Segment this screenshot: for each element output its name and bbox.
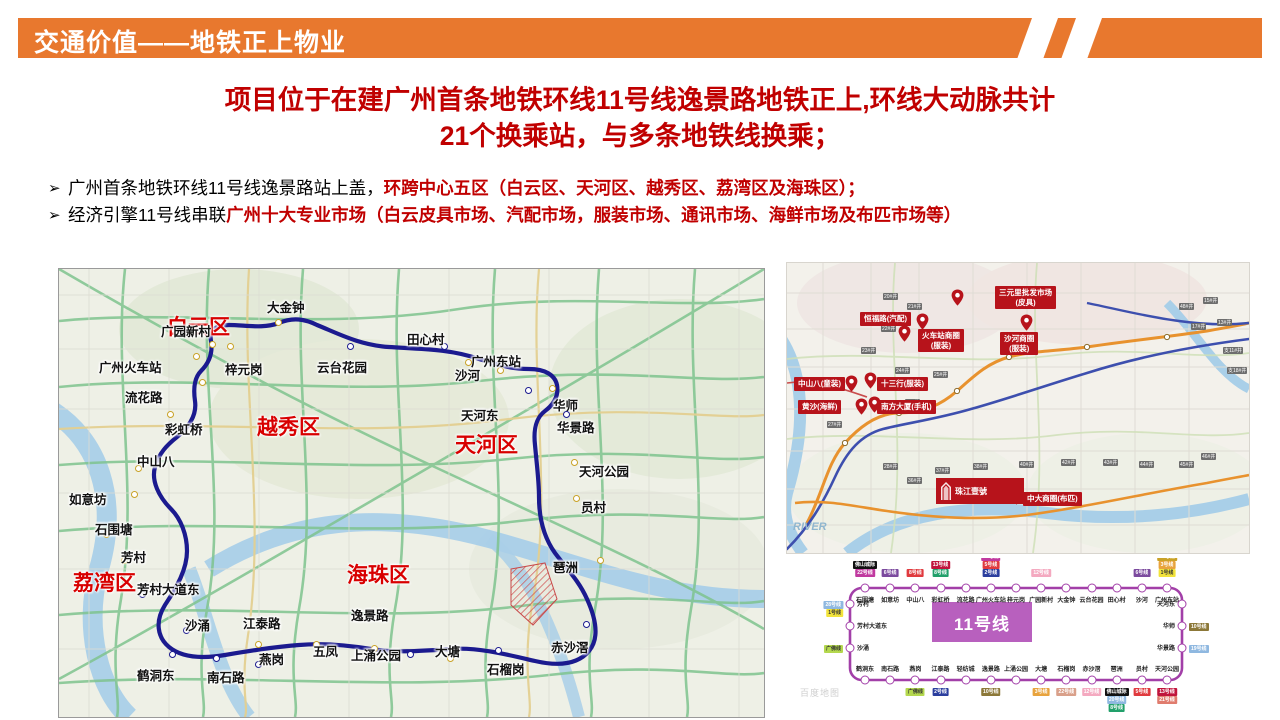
market-label: 中大商圈(布匹) xyxy=(1023,492,1082,506)
shaft-label: 支11#井 xyxy=(1223,347,1243,354)
station-dot xyxy=(193,353,200,360)
transfer-line-tag: 10号线 xyxy=(981,688,1001,696)
bullet-text-black: 广州首条地铁环线11号线逸景路站上盖， xyxy=(68,178,384,198)
district-label-haizhu: 海珠区 xyxy=(347,559,410,589)
station-label: 琶洲 xyxy=(553,557,578,576)
loop-station-label: 华师 xyxy=(1163,621,1175,630)
station-dot xyxy=(167,411,174,418)
loop-station-dot[interactable] xyxy=(911,584,920,593)
project-logo-icon xyxy=(940,482,952,500)
station-label: 天河东 xyxy=(461,405,499,424)
transfer-line-tag: 10号线 xyxy=(1189,623,1209,631)
shaft-label: 36#井 xyxy=(907,477,922,484)
map-watermark: 百度地图 xyxy=(800,686,840,699)
transfer-line-tag: 13号线 xyxy=(1157,688,1177,696)
station-label: 中山八 xyxy=(137,451,175,470)
loop-station-label: 燕岗 xyxy=(909,664,921,673)
bullet-text-red: 广州十大专业市场（白云皮具市场、汽配市场，服装市场、通讯市场、海鲜市场及布匹市场… xyxy=(226,205,961,225)
shaft-label: 37#井 xyxy=(935,467,950,474)
loop-station-dot[interactable] xyxy=(1178,600,1187,609)
station-dot xyxy=(213,655,220,662)
market-label: 沙河商圈(服装) xyxy=(1000,332,1038,355)
shaft-label: 40#井 xyxy=(1019,461,1034,468)
transfer-line-tag: 8号线 xyxy=(932,569,949,577)
station-dot xyxy=(131,491,138,498)
shaft-label: 44#井 xyxy=(1139,461,1154,468)
bullet-text-red: 环跨中心五区（白云区、天河区、越秀区、荔湾区及海珠区）； xyxy=(384,178,865,198)
station-dot xyxy=(407,651,414,658)
bullet-text-black: 经济引擎11号线串联 xyxy=(68,205,226,225)
loop-station-label: 天河公园 xyxy=(1155,664,1179,673)
loop-station-label: 轻纺城 xyxy=(957,664,975,673)
loop-station-label: 沙涌 xyxy=(857,643,869,652)
decorative-slash-icon xyxy=(1014,18,1060,58)
guangzhou-line11-overview-map[interactable]: 白云区 越秀区 天河区 荔湾区 海珠区 大金钟广园新村田心村云台花园广州东站广州… xyxy=(58,268,765,718)
loop-station-label: 天河东 xyxy=(1157,599,1175,608)
station-label: 逸景路 xyxy=(351,605,389,624)
loop-station-label: 大塘 xyxy=(1035,664,1047,673)
station-dot xyxy=(199,379,206,386)
transfer-line-tag: 12号线 xyxy=(1031,569,1051,577)
transfer-line-tag: 1号线 xyxy=(826,609,843,617)
market-label: 恒福路(汽配) xyxy=(860,312,911,326)
loop-station-label: 员村 xyxy=(1136,664,1148,673)
headline-line-1: 项目位于在建广州首条地铁环线11号线逸景路地铁正上,环线大动脉共计 xyxy=(30,82,1250,118)
station-label: 天河公园 xyxy=(579,461,629,480)
station-label: 赤沙滘 xyxy=(551,637,589,656)
transfer-line-tag: 2号线 xyxy=(932,688,949,696)
shaft-label: 21#井 xyxy=(907,303,922,310)
decorative-slash-icon xyxy=(1058,18,1104,58)
station-label: 彩虹桥 xyxy=(165,419,203,438)
line-name-badge: 11号线 xyxy=(932,602,1032,642)
transfer-line-tag: 广佛线 xyxy=(906,688,925,696)
transfer-line-tag: 13号线 xyxy=(931,561,951,569)
loop-station-dot[interactable] xyxy=(1137,584,1146,593)
loop-station-label: 梓元岗 xyxy=(1007,595,1025,604)
transfer-line-tag: 3号线 xyxy=(1033,688,1050,696)
loop-station-dot[interactable] xyxy=(1112,676,1121,685)
transfer-line-tag: 佛山城际 xyxy=(1105,688,1129,696)
station-dot xyxy=(549,385,556,392)
transfer-line-tag: 22号线 xyxy=(1157,558,1177,561)
loop-station-label: 逸景路 xyxy=(982,664,1000,673)
market-label: 黄沙(海鲜) xyxy=(798,400,841,414)
district-label-tianhe: 天河区 xyxy=(455,429,518,459)
loop-station-dot[interactable] xyxy=(1112,584,1121,593)
station-label: 五凤 xyxy=(313,641,338,660)
loop-station-label: 江泰路 xyxy=(931,664,949,673)
station-label: 江泰路 xyxy=(243,613,281,632)
market-pin-icon xyxy=(1020,314,1033,331)
transfer-line-tag: 5号线 xyxy=(1133,688,1150,696)
transfer-line-tag: 2号线 xyxy=(982,569,999,577)
loop-station-label: 琶洲 xyxy=(1111,664,1123,673)
loop-station-dot[interactable] xyxy=(1163,676,1172,685)
station-label: 沙涌 xyxy=(185,615,210,634)
loop-station-dot[interactable] xyxy=(1087,676,1096,685)
list-item: ➢ 经济引擎11号线串联广州十大专业市场（白云皮具市场、汽配市场，服装市场、通讯… xyxy=(48,203,1238,228)
bullet-list: ➢ 广州首条地铁环线11号线逸景路站上盖，环跨中心五区（白云区、天河区、越秀区、… xyxy=(48,176,1238,230)
loop-station-dot[interactable] xyxy=(961,584,970,593)
transfer-line-tag: 8号线 xyxy=(1108,704,1125,712)
shaft-label: 23#井 xyxy=(861,347,876,354)
market-pin-icon xyxy=(916,313,929,330)
loop-station-dot[interactable] xyxy=(846,600,855,609)
loop-station-dot[interactable] xyxy=(861,676,870,685)
loop-station-label: 广州火车站 xyxy=(976,595,1006,604)
loop-station-dot[interactable] xyxy=(886,676,895,685)
loop-station-label: 彩虹桥 xyxy=(931,595,949,604)
loop-station-dot[interactable] xyxy=(846,644,855,653)
loop-station-dot[interactable] xyxy=(1012,676,1021,685)
station-label: 石榴岗 xyxy=(487,659,525,678)
station-dot xyxy=(275,319,282,326)
shaft-label: 46#井 xyxy=(1201,453,1216,460)
transfer-line-tag: 1号线 xyxy=(1159,569,1176,577)
loop-station-dot[interactable] xyxy=(1178,644,1187,653)
transfer-line-tag: 5号线 xyxy=(982,561,999,569)
market-pin-icon xyxy=(845,375,858,392)
loop-station-label: 大金钟 xyxy=(1057,595,1075,604)
transfer-line-tag: 20号线 xyxy=(1107,696,1127,704)
transfer-line-tag: 22号线 xyxy=(855,569,875,577)
district-label-yuexiu: 越秀区 xyxy=(257,411,320,441)
loop-station-dot[interactable] xyxy=(1062,676,1071,685)
shaft-label: 13#井 xyxy=(1217,319,1232,326)
transfer-line-tag: 广佛线 xyxy=(824,645,843,653)
transfer-line-tag: 6号线 xyxy=(882,569,899,577)
station-label: 田心村 xyxy=(407,329,445,348)
river-label: RIVER xyxy=(793,521,827,533)
shaft-label: 15#井 xyxy=(1203,297,1218,304)
shaft-label: 17#井 xyxy=(1191,323,1206,330)
station-label: 华景路 xyxy=(557,417,595,436)
transfer-line-tag: 28号线 xyxy=(823,601,843,609)
station-label: 梓元岗 xyxy=(225,359,263,378)
transfer-line-tag: 21号线 xyxy=(1157,696,1177,704)
loop-station-dot[interactable] xyxy=(986,584,995,593)
station-dot xyxy=(227,343,234,350)
project-logo-text: 珠江壹號 xyxy=(955,487,987,496)
loop-station-label: 田心村 xyxy=(1108,595,1126,604)
shaft-label: 24#井 xyxy=(895,367,910,374)
shaft-label: 42#井 xyxy=(1061,459,1076,466)
loop-station-label: 云台花园 xyxy=(1079,595,1103,604)
shaft-label: 38#井 xyxy=(973,463,988,470)
headline: 项目位于在建广州首条地铁环线11号线逸景路地铁正上,环线大动脉共计 21个换乘站… xyxy=(30,82,1250,154)
market-label: 火车站商圈(服装) xyxy=(918,329,964,352)
station-label: 上涌公园 xyxy=(351,645,401,664)
transfer-line-tag: 佛山城际 xyxy=(853,561,877,569)
loop-station-dot[interactable] xyxy=(1012,584,1021,593)
bullet-arrow-icon: ➢ xyxy=(48,203,68,228)
header-bar: 交通价值——地铁正上物业 xyxy=(18,18,1262,58)
line-11-loop-diagram[interactable]: 11号线 石围塘22号线佛山城际如意坊6号线中山八8号线彩虹桥8号线13号线流花… xyxy=(786,558,1248,718)
station-label: 燕岗 xyxy=(259,649,284,668)
market-pin-icon xyxy=(864,372,877,389)
loop-station-dot[interactable] xyxy=(886,584,895,593)
station-dot xyxy=(597,557,604,564)
station-label: 沙河 xyxy=(455,365,480,384)
shaft-label: 20#井 xyxy=(883,293,898,300)
station-dot xyxy=(571,459,578,466)
loop-station-label: 华景路 xyxy=(1157,643,1175,652)
loop-station-dot[interactable] xyxy=(861,584,870,593)
market-label: 十三行(服装) xyxy=(877,377,928,391)
loop-station-label: 赤沙滘 xyxy=(1082,664,1100,673)
loop-station-label: 鹤洞东 xyxy=(856,664,874,673)
guangzhou-markets-map[interactable]: 20#井21#井22#井23#井24#井25#井26#井27#井28#井36#井… xyxy=(786,262,1250,554)
loop-station-label: 流花路 xyxy=(957,595,975,604)
station-label: 如意坊 xyxy=(69,489,107,508)
station-dot xyxy=(169,651,176,658)
shaft-label: 43#井 xyxy=(1103,459,1118,466)
station-dot xyxy=(525,387,532,394)
station-label: 大塘 xyxy=(435,641,460,660)
loop-station-dot[interactable] xyxy=(936,676,945,685)
transfer-line-tag: 14号线 xyxy=(981,558,1001,561)
loop-station-dot[interactable] xyxy=(846,622,855,631)
loop-station-dot[interactable] xyxy=(1062,584,1071,593)
station-label: 员村 xyxy=(581,497,606,516)
station-label: 芳村 xyxy=(121,547,146,566)
station-label: 鹤洞东 xyxy=(137,665,175,684)
loop-station-label: 上涌公园 xyxy=(1004,664,1028,673)
shaft-label: 48#井 xyxy=(1179,303,1194,310)
shaft-label: 22#井 xyxy=(881,325,896,332)
station-label: 南石路 xyxy=(207,667,245,686)
market-label: 中山八(童装) xyxy=(794,377,845,391)
transfer-line-tag: 8号线 xyxy=(907,569,924,577)
transfer-line-tag: 19号线 xyxy=(1189,645,1209,653)
loop-station-dot[interactable] xyxy=(986,676,995,685)
market-label: 三元里批发市场(皮具) xyxy=(995,286,1056,309)
market-pin-icon xyxy=(855,398,868,415)
station-label: 广园新村 xyxy=(161,321,211,340)
station-label: 石围塘 xyxy=(95,519,133,538)
market-label: 南方大厦(手机) xyxy=(877,400,936,414)
station-dot xyxy=(495,647,502,654)
bullet-arrow-icon: ➢ xyxy=(48,176,68,201)
station-dot xyxy=(583,621,590,628)
district-label-liwan: 荔湾区 xyxy=(73,567,136,597)
project-logo-badge: 珠江壹號 xyxy=(936,478,1024,504)
station-label: 大金钟 xyxy=(267,297,305,316)
station-dot xyxy=(255,641,262,648)
market-pin-icon xyxy=(898,325,911,342)
market-pin-icon xyxy=(951,289,964,306)
loop-station-dot[interactable] xyxy=(1037,584,1046,593)
loop-station-label: 南石路 xyxy=(881,664,899,673)
loop-station-dot[interactable] xyxy=(1087,584,1096,593)
loop-station-dot[interactable] xyxy=(1137,676,1146,685)
loop-station-dot[interactable] xyxy=(1163,584,1172,593)
headline-line-2: 21个换乘站，与多条地铁线换乘； xyxy=(30,118,1250,154)
transfer-line-tag: 22号线 xyxy=(1057,688,1077,696)
loop-station-label: 石榴岗 xyxy=(1057,664,1075,673)
page-title: 交通价值——地铁正上物业 xyxy=(34,23,346,58)
transfer-line-tag: 12号线 xyxy=(1082,688,1102,696)
station-label: 流花路 xyxy=(125,387,163,406)
shaft-label: 28#井 xyxy=(883,463,898,470)
station-dot xyxy=(347,343,354,350)
loop-station-label: 芳村大道东 xyxy=(857,621,887,630)
loop-station-label: 中山八 xyxy=(906,595,924,604)
shaft-label: 27#井 xyxy=(827,421,842,428)
transfer-line-tag: 6号线 xyxy=(1133,569,1150,577)
transfer-line-tag: 3号线 xyxy=(1159,561,1176,569)
shaft-label: 支18#井 xyxy=(1227,367,1247,374)
loop-station-label: 如意坊 xyxy=(881,595,899,604)
loop-station-label: 芳村 xyxy=(857,599,869,608)
station-label: 芳村大道东 xyxy=(137,579,200,598)
station-label: 云台花园 xyxy=(317,357,367,376)
station-dot xyxy=(573,495,580,502)
list-item: ➢ 广州首条地铁环线11号线逸景路站上盖，环跨中心五区（白云区、天河区、越秀区、… xyxy=(48,176,1238,201)
loop-station-dot[interactable] xyxy=(1037,676,1046,685)
loop-station-label: 广园新村 xyxy=(1029,595,1053,604)
loop-station-label: 沙河 xyxy=(1136,595,1148,604)
station-label: 广州火车站 xyxy=(99,357,162,376)
shaft-label: 25#井 xyxy=(933,371,948,378)
station-dot xyxy=(209,341,216,348)
loop-station-dot[interactable] xyxy=(1178,622,1187,631)
loop-station-dot[interactable] xyxy=(936,584,945,593)
shaft-label: 45#井 xyxy=(1179,461,1194,468)
loop-station-dot[interactable] xyxy=(911,676,920,685)
loop-station-dot[interactable] xyxy=(961,676,970,685)
